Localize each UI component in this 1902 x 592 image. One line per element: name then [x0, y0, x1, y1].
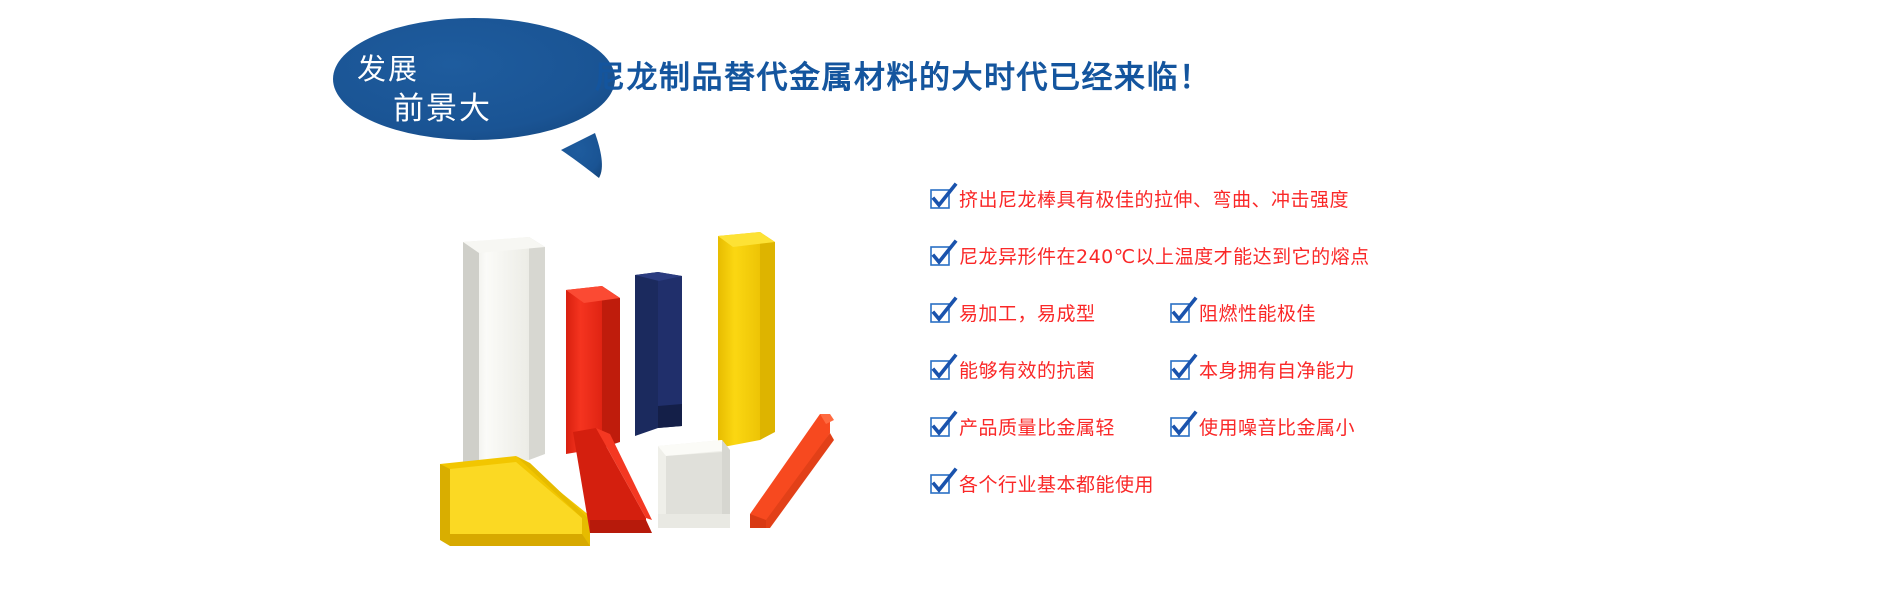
checklist-item-label: 易加工，易成型 [959, 299, 1096, 326]
checkbox-checked-icon [1170, 360, 1189, 379]
checklist-item: 产品质量比金属轻 [930, 413, 1115, 440]
checkbox-checked-icon [930, 474, 949, 493]
product-photo-illustration [430, 228, 890, 568]
headline: 尼龙制品替代金属材料的大时代已经来临！ [594, 52, 1212, 97]
checkbox-checked-icon [930, 189, 949, 208]
checkbox-checked-icon [930, 246, 949, 265]
checklist-row: 能够有效的抗菌 本身拥有自净能力 [930, 356, 1490, 413]
checklist-item-label: 产品质量比金属轻 [959, 413, 1115, 440]
checklist-row: 尼龙异形件在240℃以上温度才能达到它的熔点 [930, 242, 1490, 299]
checklist-item-label: 阻燃性能极佳 [1199, 299, 1316, 326]
checklist-item: 阻燃性能极佳 [1170, 299, 1316, 326]
promo-banner: 发展 前景大 尼龙制品替代金属材料的大时代已经来临！ [0, 0, 1902, 592]
checklist-row: 挤出尼龙棒具有极佳的拉伸、弯曲、冲击强度 [930, 185, 1490, 242]
speech-bubble-shape [333, 18, 633, 188]
checkbox-checked-icon [930, 360, 949, 379]
checklist-item-label: 尼龙异形件在240℃以上温度才能达到它的熔点 [959, 242, 1370, 269]
checkbox-checked-icon [1170, 303, 1189, 322]
checklist-item-label: 使用噪音比金属小 [1199, 413, 1355, 440]
checklist-item: 能够有效的抗菌 [930, 356, 1096, 383]
checklist-item: 尼龙异形件在240℃以上温度才能达到它的熔点 [930, 242, 1370, 269]
checkbox-checked-icon [930, 303, 949, 322]
checklist-item-label: 能够有效的抗菌 [959, 356, 1096, 383]
checklist-item: 挤出尼龙棒具有极佳的拉伸、弯曲、冲击强度 [930, 185, 1349, 212]
checklist-item: 各个行业基本都能使用 [930, 470, 1154, 497]
product-photo [430, 228, 890, 568]
checklist-item: 使用噪音比金属小 [1170, 413, 1355, 440]
checklist-item: 本身拥有自净能力 [1170, 356, 1355, 383]
checklist-item-label: 挤出尼龙棒具有极佳的拉伸、弯曲、冲击强度 [959, 185, 1349, 212]
speech-bubble: 发展 前景大 [333, 18, 633, 188]
checklist-row: 各个行业基本都能使用 [930, 470, 1490, 527]
feature-checklist: 挤出尼龙棒具有极佳的拉伸、弯曲、冲击强度 尼龙异形件在240℃以上温度才能达到它… [930, 185, 1490, 527]
checklist-item-label: 各个行业基本都能使用 [959, 470, 1154, 497]
checklist-item: 易加工，易成型 [930, 299, 1096, 326]
checkbox-checked-icon [1170, 417, 1189, 436]
checklist-item-label: 本身拥有自净能力 [1199, 356, 1355, 383]
checklist-row: 易加工，易成型 阻燃性能极佳 [930, 299, 1490, 356]
checklist-row: 产品质量比金属轻 使用噪音比金属小 [930, 413, 1490, 470]
checkbox-checked-icon [930, 417, 949, 436]
